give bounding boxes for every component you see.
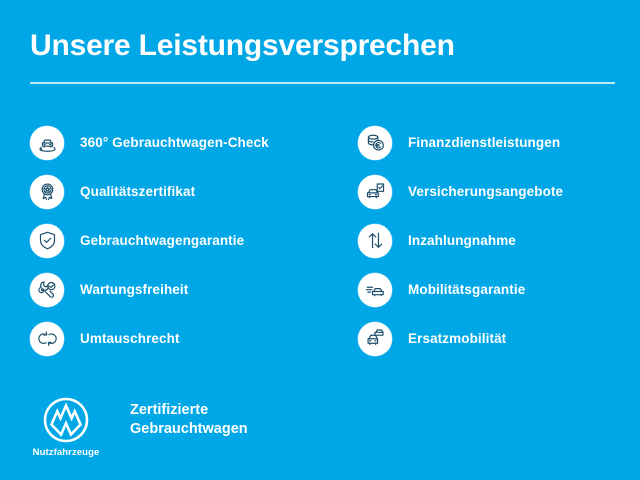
exchange-arrows-icon: [30, 322, 64, 356]
list-item-label: Gebrauchtwagengarantie: [80, 233, 244, 248]
award-rosette-icon: [30, 175, 64, 209]
vw-roundel-icon: [42, 396, 90, 444]
list-item-label: 360° Gebrauchtwagen-Check: [80, 135, 269, 150]
list-item-label: Versicherungsangebote: [408, 184, 563, 199]
list-item-label: Finanzdienstleistungen: [408, 135, 560, 150]
header: Unsere Leistungsversprechen: [30, 28, 615, 84]
shield-check-icon: [30, 224, 64, 258]
vw-logo-wordmark: Nutzfahrzeuge: [33, 447, 100, 458]
list-item[interactable]: Versicherungsangebote: [358, 167, 628, 216]
list-item[interactable]: Wartungsfreiheit: [30, 265, 330, 314]
promises-left-column: 360° Gebrauchtwagen-Check Qualitätszerti…: [30, 118, 330, 363]
car-360-check-icon: [30, 126, 64, 160]
list-item[interactable]: Umtauschrecht: [30, 314, 330, 363]
two-cars-icon: [358, 322, 392, 356]
slide-canvas: Unsere Leistungsversprechen 360° Gebrauc: [0, 0, 640, 480]
list-item-label: Wartungsfreiheit: [80, 282, 188, 297]
footer-headline-line1: Zertifizierte: [130, 401, 248, 420]
wrench-check-icon: [30, 273, 64, 307]
page-title: Unsere Leistungsversprechen: [30, 28, 615, 64]
car-document-check-icon: [358, 175, 392, 209]
list-item-label: Inzahlungnahme: [408, 233, 516, 248]
list-item-label: Ersatzmobilität: [408, 331, 506, 346]
list-item-label: Mobilitätsgarantie: [408, 282, 525, 297]
footer-headline: Zertifizierte Gebrauchtwagen: [130, 401, 248, 439]
car-motion-icon: [358, 273, 392, 307]
list-item[interactable]: Inzahlungnahme: [358, 216, 628, 265]
list-item[interactable]: Mobilitätsgarantie: [358, 265, 628, 314]
promises-right-column: Finanzdienstleistungen Versicherungsange…: [358, 118, 628, 363]
list-item[interactable]: Gebrauchtwagengarantie: [30, 216, 330, 265]
list-item[interactable]: Qualitätszertifikat: [30, 167, 330, 216]
vw-logo-block: Nutzfahrzeuge: [30, 396, 102, 458]
list-item[interactable]: Ersatzmobilität: [358, 314, 628, 363]
list-item[interactable]: 360° Gebrauchtwagen-Check: [30, 118, 330, 167]
arrows-up-down-icon: [358, 224, 392, 258]
coins-euro-icon: [358, 126, 392, 160]
list-item[interactable]: Finanzdienstleistungen: [358, 118, 628, 167]
list-item-label: Umtauschrecht: [80, 331, 180, 346]
footer-headline-line2: Gebrauchtwagen: [130, 420, 248, 439]
footer-brand-lockup: Nutzfahrzeuge Zertifizierte Gebrauchtwag…: [30, 396, 248, 458]
list-item-label: Qualitätszertifikat: [80, 184, 195, 199]
title-divider: [30, 82, 615, 84]
